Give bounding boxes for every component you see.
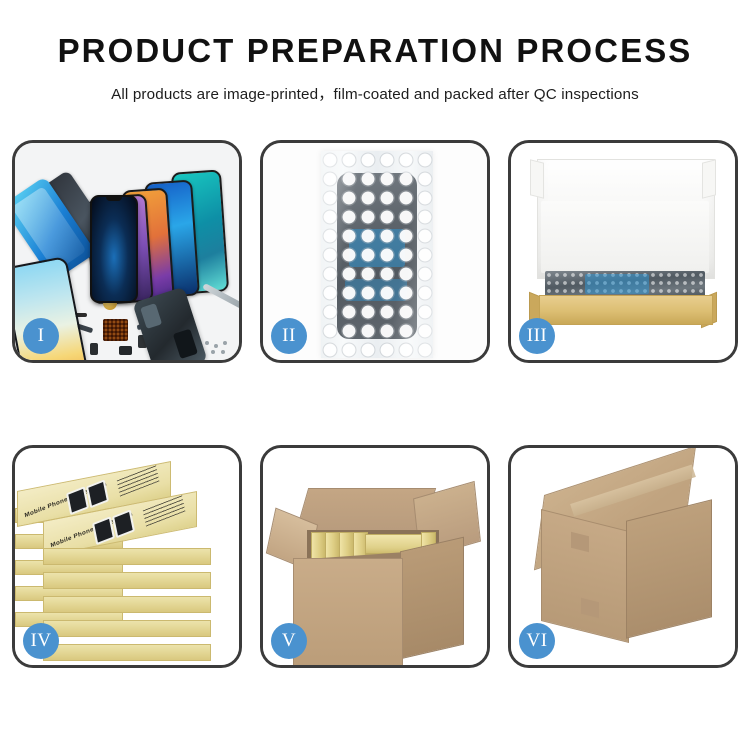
carton-side-right	[400, 537, 464, 660]
retail-box-side	[43, 548, 211, 565]
retail-box-side	[43, 620, 211, 637]
box-art-screen	[112, 509, 135, 538]
page-subtitle: All products are image-printed，film-coat…	[0, 82, 750, 104]
step-panel-2[interactable]: II	[260, 140, 490, 363]
process-steps-grid: I II	[12, 140, 738, 668]
page-title: PRODUCT PREPARATION PROCESS	[0, 33, 750, 69]
step-panel-5[interactable]: V	[260, 445, 490, 668]
mailer-lid-flap-left	[530, 159, 544, 198]
sealed-carton-front	[541, 509, 629, 643]
step-badge-1: I	[23, 318, 59, 354]
step-panel-4[interactable]: Mobile Phone Spare Parts Mobile Phone Sp…	[12, 445, 242, 668]
step-badge-5: V	[271, 623, 307, 659]
box-art-screen	[66, 486, 89, 515]
mailer-lid-flap-right	[702, 159, 716, 198]
front-glass-panel	[90, 195, 138, 303]
step-panel-1[interactable]: I	[12, 140, 242, 363]
box-spec-lines	[117, 464, 160, 496]
step-panel-6[interactable]: VI	[508, 445, 738, 668]
part-speaker	[119, 346, 132, 355]
step-badge-3: III	[519, 318, 555, 354]
step-panel-3[interactable]: III	[508, 140, 738, 363]
part-screws	[205, 341, 233, 355]
step-badge-6: VI	[519, 623, 555, 659]
mailer-box-front	[539, 295, 713, 325]
notch-icon	[106, 197, 122, 201]
carton-front-face	[293, 558, 403, 665]
part-copper-grid	[103, 319, 128, 341]
step-badge-4: IV	[23, 623, 59, 659]
part-button	[90, 343, 98, 355]
box-art-screen	[86, 479, 109, 508]
retail-box-side	[43, 572, 211, 589]
sealed-carton-side	[626, 499, 712, 638]
retail-box-side	[43, 596, 211, 613]
page-header: PRODUCT PREPARATION PROCESS All products…	[0, 0, 750, 104]
box-art-screen	[92, 516, 115, 545]
foam-liner	[541, 201, 709, 273]
plastic-gloss	[321, 151, 433, 358]
retail-box-side	[43, 644, 211, 661]
step-badge-2: II	[271, 318, 307, 354]
bubble-wrap-sleeve	[321, 151, 433, 358]
